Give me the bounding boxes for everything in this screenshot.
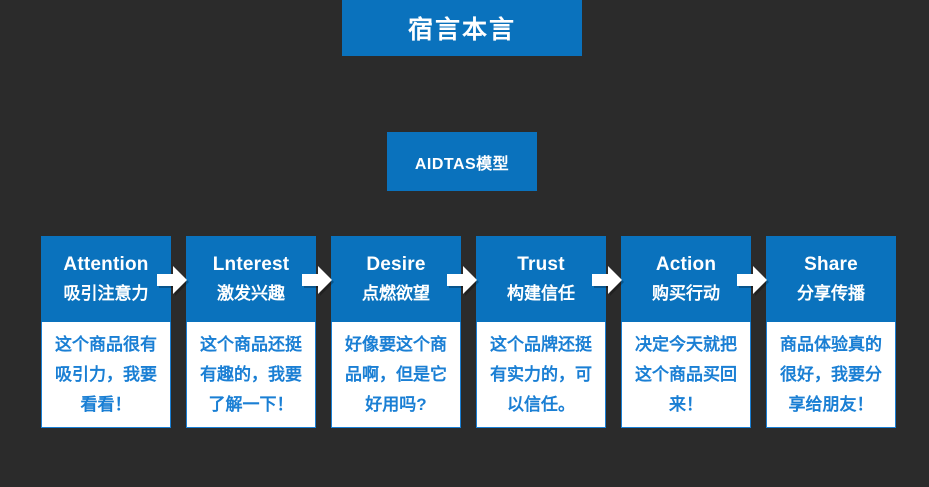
stage-header: Trust 构建信任 [476,236,606,322]
stage-title-en: Attention [63,250,148,280]
stage-card-desire[interactable]: Desire 点燃欲望 好像要这个商品啊，但是它好用吗? [331,236,461,428]
stage-title-en: Trust [517,250,564,280]
stage-card-share[interactable]: Share 分享传播 商品体验真的很好，我要分享给朋友！ [766,236,896,428]
stage-title-cn: 激发兴趣 [217,280,285,308]
stage-title-en: Lnterest [213,250,290,280]
model-label-box: AIDTAS模型 [387,132,537,191]
stage-title-en: Desire [366,250,425,280]
stage-quote: 好像要这个商品啊，但是它好用吗? [339,330,453,420]
stage-title-cn: 购买行动 [652,280,720,308]
stage-title-cn: 构建信任 [507,280,575,308]
arrow-right-icon [447,266,477,294]
stage-card-action[interactable]: Action 购买行动 决定今天就把这个商品买回来！ [621,236,751,428]
stage-quote: 决定今天就把这个商品买回来！ [629,330,743,420]
stage-title-cn: 吸引注意力 [64,280,149,308]
arrow-right-icon [157,266,187,294]
stage-title-cn: 分享传播 [797,280,865,308]
arrow-right-icon [737,266,767,294]
stage-card-attention[interactable]: Attention 吸引注意力 这个商品很有吸引力，我要看看！ [41,236,171,428]
stage-body: 好像要这个商品啊，但是它好用吗? [331,322,461,428]
stage-quote: 这个商品很有吸引力，我要看看！ [49,330,163,420]
stage-quote: 商品体验真的很好，我要分享给朋友！ [774,330,888,420]
stage-body: 这个商品很有吸引力，我要看看！ [41,322,171,428]
stage-header: Share 分享传播 [766,236,896,322]
model-label: AIDTAS模型 [415,150,509,174]
stage-header: Lnterest 激发兴趣 [186,236,316,322]
stage-body: 这个商品还挺有趣的，我要了解一下！ [186,322,316,428]
stage-header: Desire 点燃欲望 [331,236,461,322]
arrow-right-icon [592,266,622,294]
stage-card-trust[interactable]: Trust 构建信任 这个品牌还挺有实力的，可以信任。 [476,236,606,428]
arrow-right-icon [302,266,332,294]
stages-row: Attention 吸引注意力 这个商品很有吸引力，我要看看！ Lnterest… [41,236,892,428]
title-banner: 宿言本言 [342,0,582,56]
stage-quote: 这个商品还挺有趣的，我要了解一下！ [194,330,308,420]
stage-body: 商品体验真的很好，我要分享给朋友！ [766,322,896,428]
stage-quote: 这个品牌还挺有实力的，可以信任。 [484,330,598,420]
stage-title-cn: 点燃欲望 [362,280,430,308]
stage-body: 决定今天就把这个商品买回来！ [621,322,751,428]
stage-card-interest[interactable]: Lnterest 激发兴趣 这个商品还挺有趣的，我要了解一下！ [186,236,316,428]
stage-header: Attention 吸引注意力 [41,236,171,322]
page-title: 宿言本言 [408,10,516,46]
stage-header: Action 购买行动 [621,236,751,322]
stage-title-en: Action [656,250,716,280]
stage-body: 这个品牌还挺有实力的，可以信任。 [476,322,606,428]
stage-title-en: Share [804,250,858,280]
